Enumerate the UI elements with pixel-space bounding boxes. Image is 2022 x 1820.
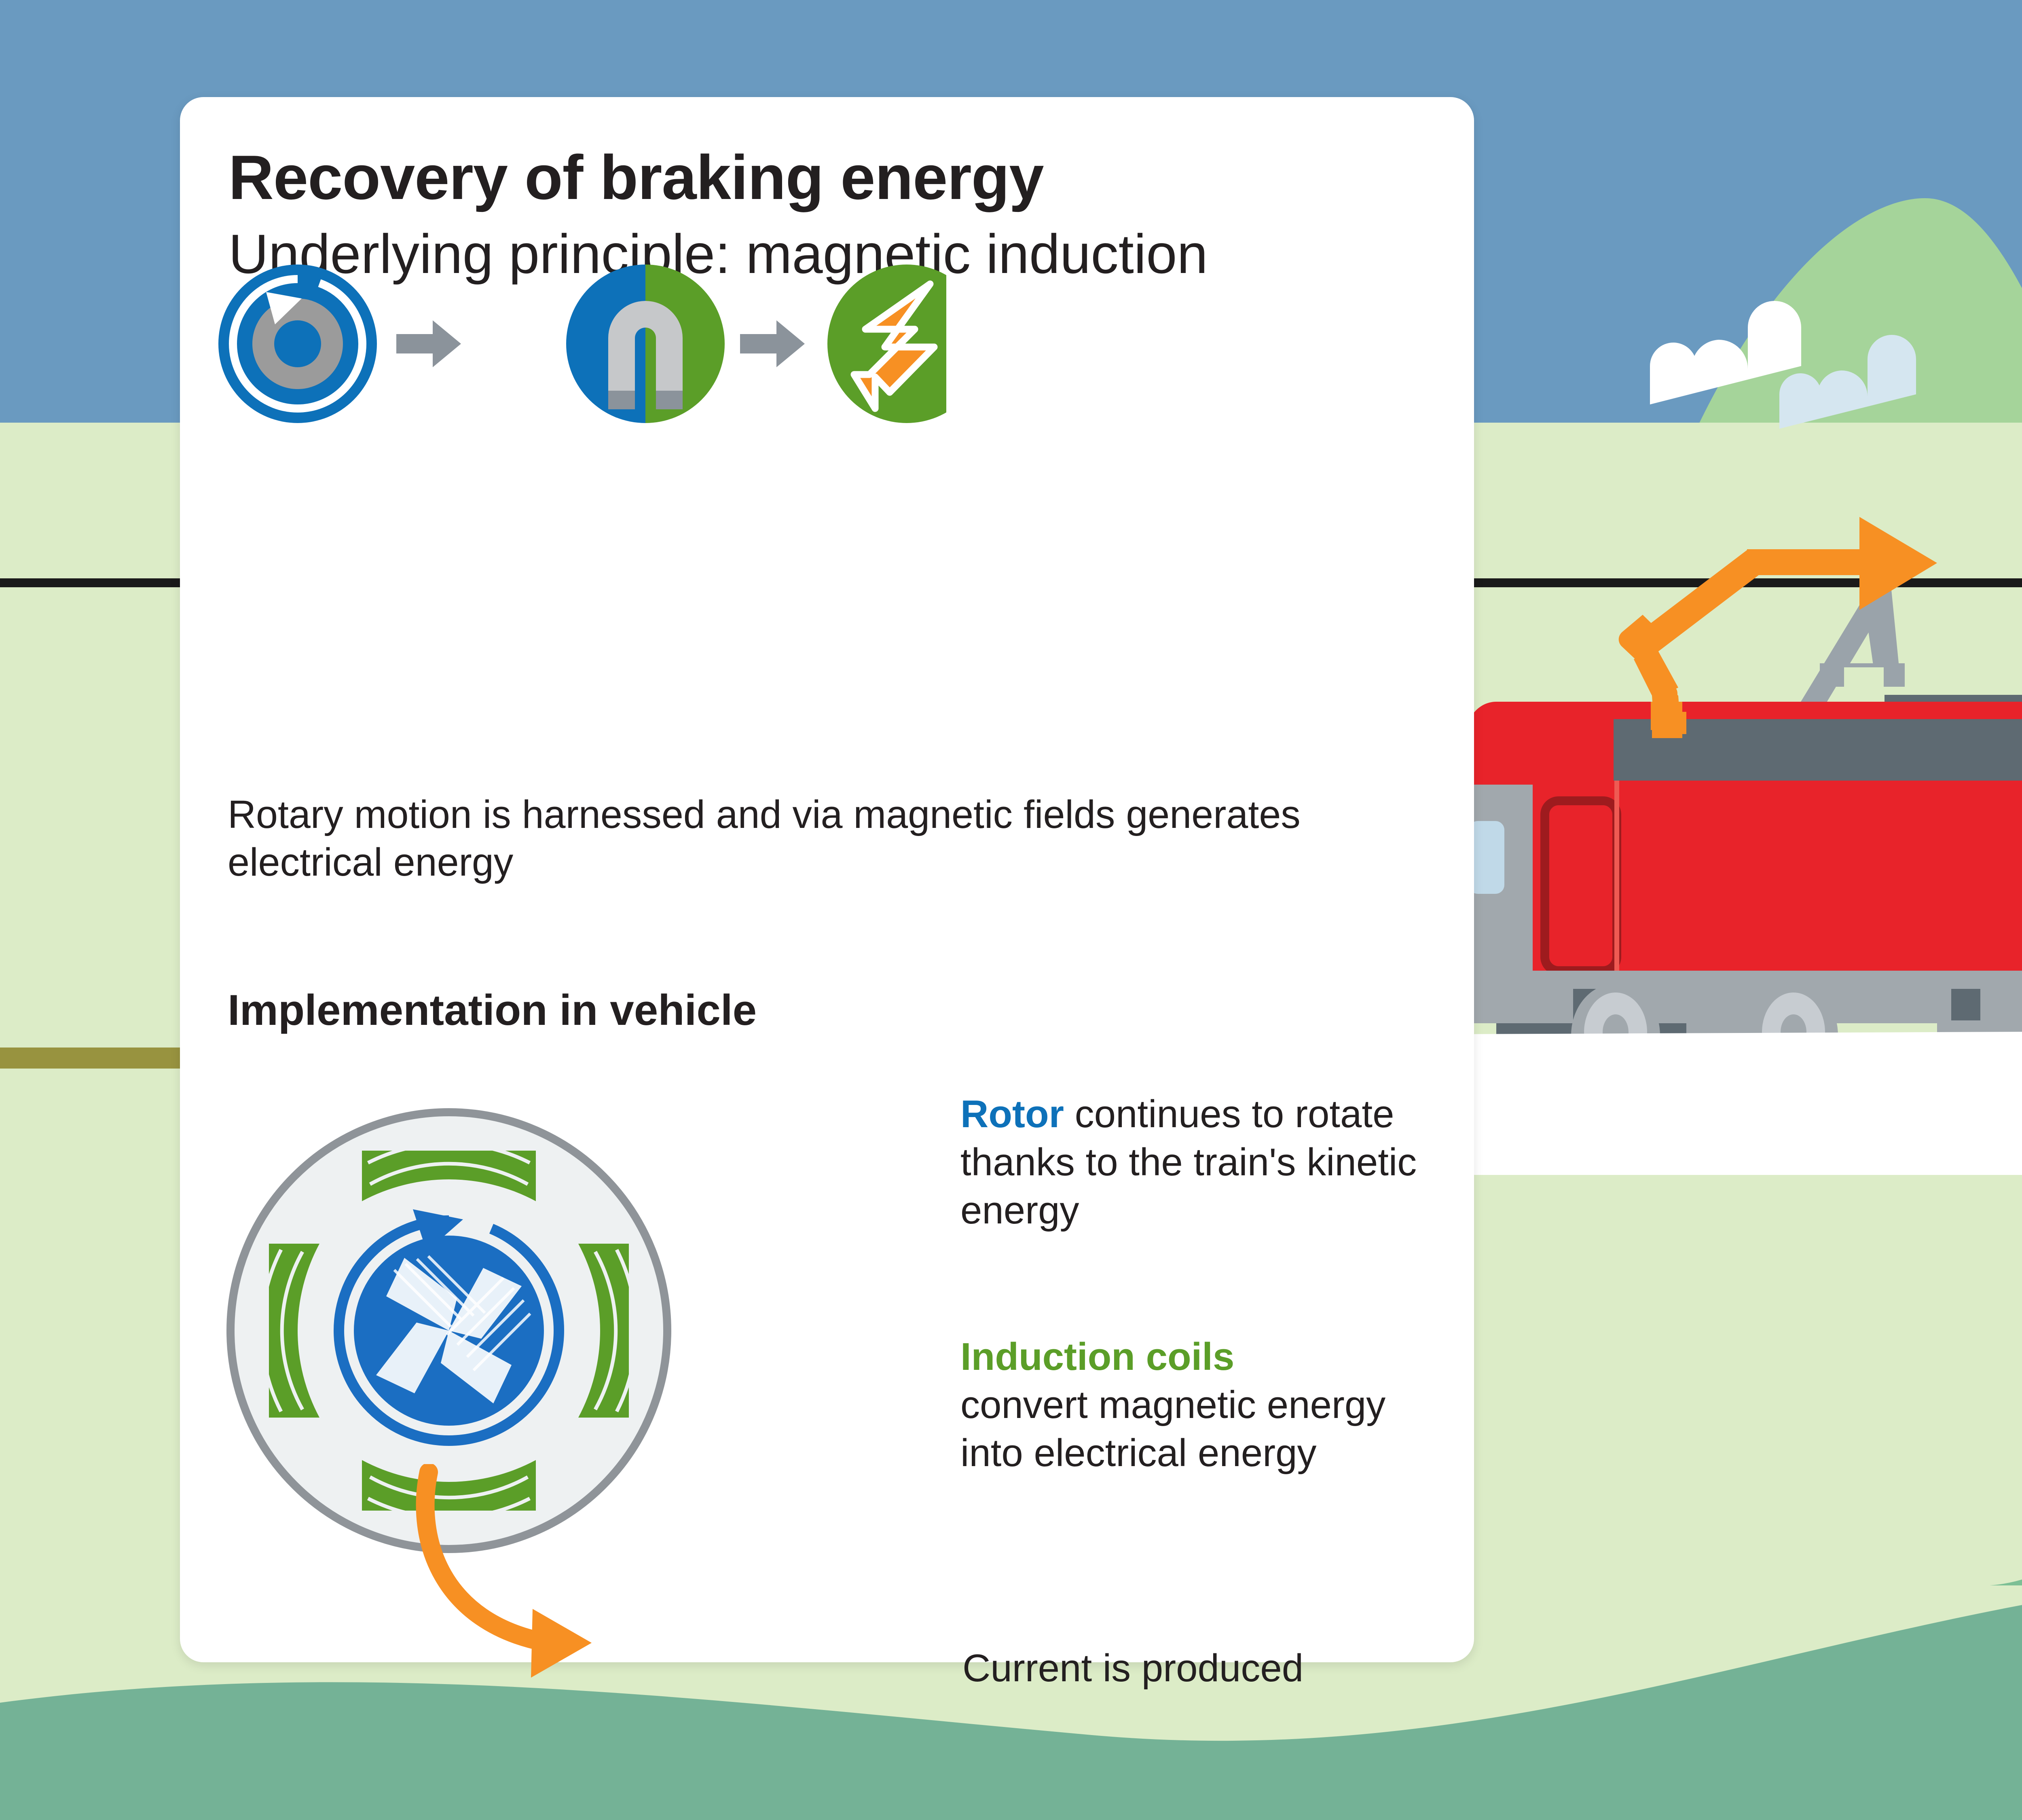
arrow-right-icon: [396, 320, 461, 367]
curved-orange-arrow: [390, 1464, 997, 1715]
rotor-keyword: Rotor: [960, 1092, 1064, 1136]
coils-description: Induction coilsconvert magnetic energy i…: [960, 1333, 1446, 1477]
info-card: Recovery of braking energy Underlying pr…: [180, 97, 1474, 1662]
magnet-icon: [566, 265, 725, 423]
arrow-right-icon: [740, 320, 805, 367]
rotor-core: [354, 1236, 544, 1426]
section-heading: Implementation in vehicle: [228, 985, 757, 1035]
rotor-description: Rotor continues to rotate thanks to the …: [960, 1090, 1438, 1234]
current-produced-label: Current is produced: [962, 1646, 1303, 1691]
principle-description: Rotary motion is harnessed and via magne…: [228, 791, 1425, 887]
lightning-bolt-icon: [827, 265, 946, 423]
infographic-root: Recovery of braking energy Underlying pr…: [0, 0, 2022, 1820]
coils-text: convert magnetic energy into electrical …: [960, 1383, 1385, 1475]
principle-flow-diagram: [218, 259, 946, 429]
coils-keyword: Induction coils: [960, 1335, 1234, 1378]
page-title: Recovery of braking energy: [228, 142, 1044, 214]
rotation-icon: [218, 265, 377, 423]
